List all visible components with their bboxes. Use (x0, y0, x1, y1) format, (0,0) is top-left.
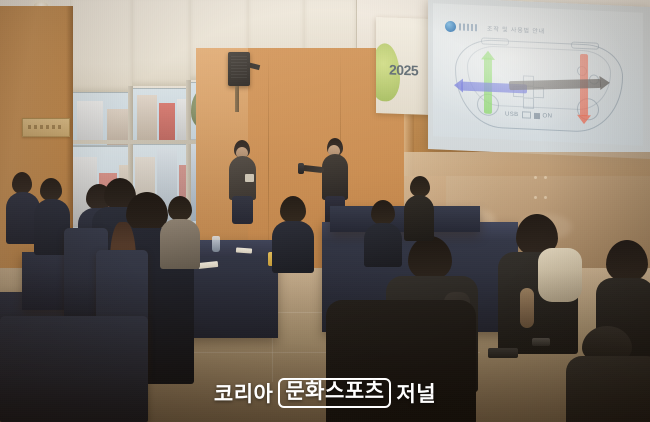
audience-head (410, 176, 430, 197)
standing-attendee (404, 176, 434, 238)
water-bottle (212, 236, 220, 252)
dpad-down (523, 97, 534, 108)
usb-label: USB (505, 111, 519, 118)
usb-port-icon (522, 111, 531, 118)
left-shoulder-button (481, 37, 509, 45)
audience-head (168, 196, 192, 221)
slide-logo-wordmark (459, 23, 479, 31)
audience-head (606, 240, 648, 282)
audience-member (272, 196, 314, 270)
window-pane (70, 92, 134, 146)
microphone[interactable] (298, 163, 304, 174)
audience-body (566, 356, 650, 422)
device-on-table (532, 338, 550, 346)
chair-cover (0, 316, 148, 422)
audience-head (40, 178, 62, 201)
audience-body (160, 219, 200, 269)
right-shoulder-button (571, 41, 599, 49)
paper-handout (236, 247, 252, 253)
on-label: ON (543, 113, 553, 119)
presenter-left-legs (232, 196, 253, 224)
audience-head (371, 200, 395, 225)
audience-head (12, 172, 32, 194)
presenter-right-torso (322, 154, 348, 200)
audience-body (272, 221, 314, 273)
audience-body (326, 300, 476, 422)
presenter-left-clipboard (245, 174, 254, 182)
brass-room-sign (22, 118, 70, 137)
speaker-pole (235, 86, 239, 112)
device-on-table (488, 348, 518, 358)
banner-year: 2025 (389, 61, 418, 78)
audience-head (408, 236, 452, 280)
wall-mounted-speaker (228, 52, 250, 86)
power-switch-icon (534, 112, 540, 118)
cream-scarf (538, 248, 582, 302)
slide-logo-icon (445, 21, 456, 32)
projection-screen: 조작 및 사용법 안내 USB ON (433, 3, 643, 146)
presenter-left (228, 140, 258, 222)
hair-accessory (520, 288, 534, 328)
window-blind[interactable] (132, 0, 191, 86)
game-controller-diagram: USB ON (455, 38, 623, 134)
audience-member (326, 300, 476, 422)
audience-member (160, 196, 200, 266)
slide-title: 조작 및 사용법 안내 (487, 24, 545, 36)
audience-member (566, 326, 650, 422)
gray-right-arrow-annotation (507, 76, 612, 93)
speaker-grill-icon (231, 56, 247, 79)
window-pane (132, 88, 192, 144)
window-blind[interactable] (70, 0, 133, 92)
conference-photo: 2025 조작 및 사용법 안내 USB ON (0, 0, 650, 422)
event-banner: 2025 (376, 17, 432, 115)
audience-body (404, 195, 434, 241)
audience-head (280, 196, 306, 223)
